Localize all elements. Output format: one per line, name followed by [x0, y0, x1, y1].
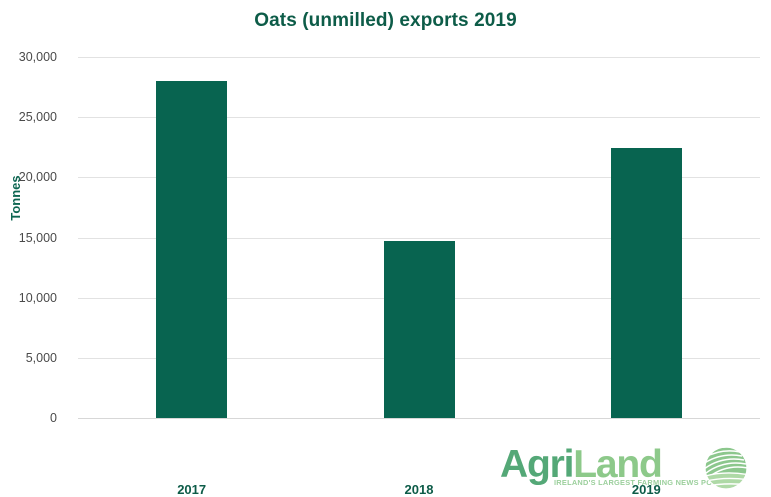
chart-title: Oats (unmilled) exports 2019 — [0, 10, 771, 32]
y-axis-tick-label: 30,000 — [0, 50, 57, 64]
field-emblem-icon — [704, 446, 748, 490]
bar-2018 — [384, 241, 455, 418]
x-axis-tick-label-2018: 2018 — [379, 482, 459, 497]
gridline — [78, 57, 760, 58]
y-axis-tick-label: 10,000 — [0, 291, 57, 305]
gridline — [78, 418, 760, 419]
y-axis-tick-label: 15,000 — [0, 231, 57, 245]
y-axis-tick-label: 5,000 — [0, 351, 57, 365]
bar-2019 — [611, 148, 682, 418]
y-axis-tick-label: 25,000 — [0, 110, 57, 124]
bar-2017 — [156, 81, 227, 418]
chart-container: Oats (unmilled) exports 2019 Tonnes 05,0… — [0, 0, 771, 497]
agriland-logo: AgriLand IRELAND'S LARGEST FARMING NEWS … — [500, 445, 762, 495]
x-axis-tick-label-2017: 2017 — [152, 482, 232, 497]
plot-area: 05,00010,00015,00020,00025,00030,0002017… — [78, 57, 760, 418]
y-axis-tick-label: 0 — [0, 411, 57, 425]
y-axis-tick-label: 20,000 — [0, 170, 57, 184]
